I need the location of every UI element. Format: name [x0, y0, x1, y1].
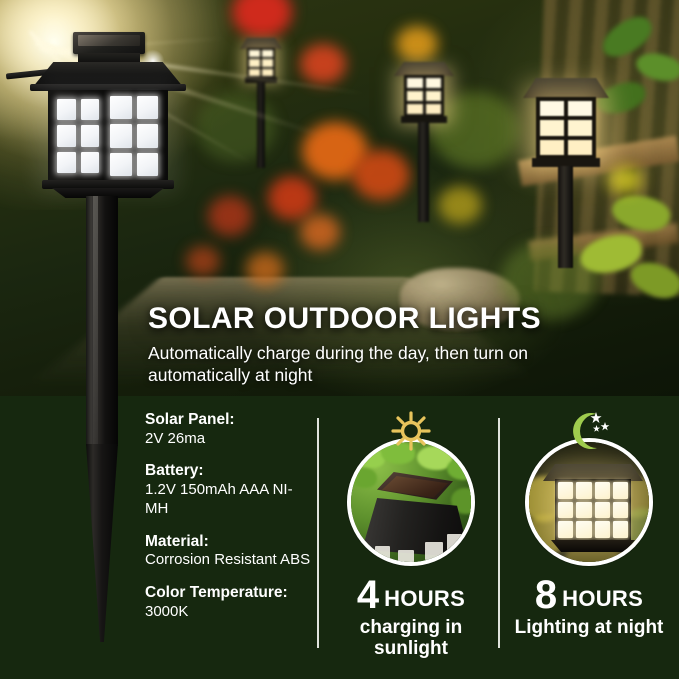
hours-number: 8 — [535, 573, 557, 617]
divider-left — [317, 418, 319, 648]
leaf — [447, 458, 475, 480]
lantern-window — [398, 550, 414, 566]
spec-item: Color Temperature: 3000K — [145, 583, 315, 621]
charging-visual — [347, 438, 475, 566]
glass-pane — [137, 153, 159, 176]
lantern-ground-stake — [86, 196, 118, 642]
lantern-window — [425, 542, 443, 560]
lantern-base — [42, 180, 174, 189]
leaf — [351, 468, 377, 488]
glass-pane — [57, 125, 76, 146]
spec-label: Battery: — [145, 461, 315, 481]
glass-pane — [576, 502, 591, 519]
feature-charging: 4HOURS charging in sunlight — [322, 396, 500, 660]
stake-shaft — [86, 196, 118, 446]
glass-pane — [558, 521, 573, 538]
glass-pane — [613, 482, 628, 499]
glass-pane — [576, 521, 591, 538]
glass-pane — [81, 99, 100, 120]
flower-blob — [186, 246, 220, 276]
glass-pane — [137, 124, 159, 147]
lighting-visual — [525, 438, 653, 566]
background-lantern — [520, 78, 612, 268]
lantern-window — [447, 534, 463, 551]
glass-pane — [576, 482, 591, 499]
flower-blob — [246, 252, 284, 286]
night-lantern-image — [525, 438, 653, 566]
spec-label: Color Temperature: — [145, 583, 315, 603]
glass-pane — [558, 502, 573, 519]
page-title: SOLAR OUTDOOR LIGHTS — [148, 303, 668, 335]
lantern-glass-grid — [558, 482, 628, 538]
solar-panel-glass — [78, 35, 140, 46]
charging-caption: charging in sunlight — [322, 618, 500, 660]
spec-value: 1.2V 150mAh AAA NI-MH — [145, 481, 315, 519]
flower-blob — [300, 214, 340, 250]
flower-blob — [608, 166, 642, 194]
glass-pane — [110, 124, 132, 147]
flower-blob — [300, 44, 346, 84]
spec-item: Material: Corrosion Resistant ABS — [145, 532, 315, 570]
spec-item: Battery: 1.2V 150mAh AAA NI-MH — [145, 461, 315, 518]
feature-lighting: 8HOURS Lighting at night — [500, 396, 678, 639]
spec-label: Material: — [145, 532, 315, 552]
headline-block: SOLAR OUTDOOR LIGHTS Automatically charg… — [148, 303, 668, 386]
glass-pane — [613, 502, 628, 519]
lantern-window — [375, 546, 390, 560]
lantern-glass-grid — [57, 99, 99, 173]
background-lantern — [238, 38, 284, 168]
glass-pane — [595, 482, 610, 499]
glass-pane — [81, 152, 100, 173]
moon-stars-icon — [563, 408, 615, 454]
stake-tip — [86, 444, 118, 642]
flower-blob — [268, 176, 316, 220]
sun-icon — [385, 408, 437, 454]
spec-value: 2V 26ma — [145, 430, 315, 449]
spec-label: Solar Panel: — [145, 410, 315, 430]
glass-pane — [57, 152, 76, 173]
spec-list: Solar Panel: 2V 26ma Battery: 1.2V 150mA… — [145, 410, 315, 635]
lantern-glass-grid — [110, 96, 158, 176]
lighting-hours: 8HOURS — [500, 575, 678, 615]
solar-panel-top — [73, 32, 145, 54]
background-lantern — [392, 62, 456, 222]
lantern-base — [551, 540, 635, 552]
spec-item: Solar Panel: 2V 26ma — [145, 410, 315, 448]
product-infographic: SOLAR OUTDOOR LIGHTS Automatically charg… — [0, 0, 679, 679]
page-subtitle: Automatically charge during the day, the… — [148, 342, 608, 387]
flower-blob — [396, 26, 438, 62]
hours-number: 4 — [357, 573, 379, 617]
glass-pane — [595, 502, 610, 519]
charging-hours: 4HOURS — [322, 575, 500, 615]
glass-pane — [81, 125, 100, 146]
lighting-caption: Lighting at night — [500, 618, 678, 639]
flower-blob — [208, 196, 252, 236]
glass-pane — [613, 521, 628, 538]
glass-pane — [137, 96, 159, 119]
glass-pane — [595, 521, 610, 538]
stake-highlight — [93, 196, 98, 446]
solar-panel-closeup-image — [347, 438, 475, 566]
spec-value: Corrosion Resistant ABS — [145, 551, 315, 570]
lantern-body — [48, 90, 168, 182]
glass-pane — [558, 482, 573, 499]
glass-pane — [110, 96, 132, 119]
glass-pane — [57, 99, 76, 120]
hours-unit: HOURS — [562, 586, 643, 611]
spec-value: 3000K — [145, 603, 315, 622]
hours-unit: HOURS — [384, 586, 465, 611]
glass-pane — [110, 153, 132, 176]
